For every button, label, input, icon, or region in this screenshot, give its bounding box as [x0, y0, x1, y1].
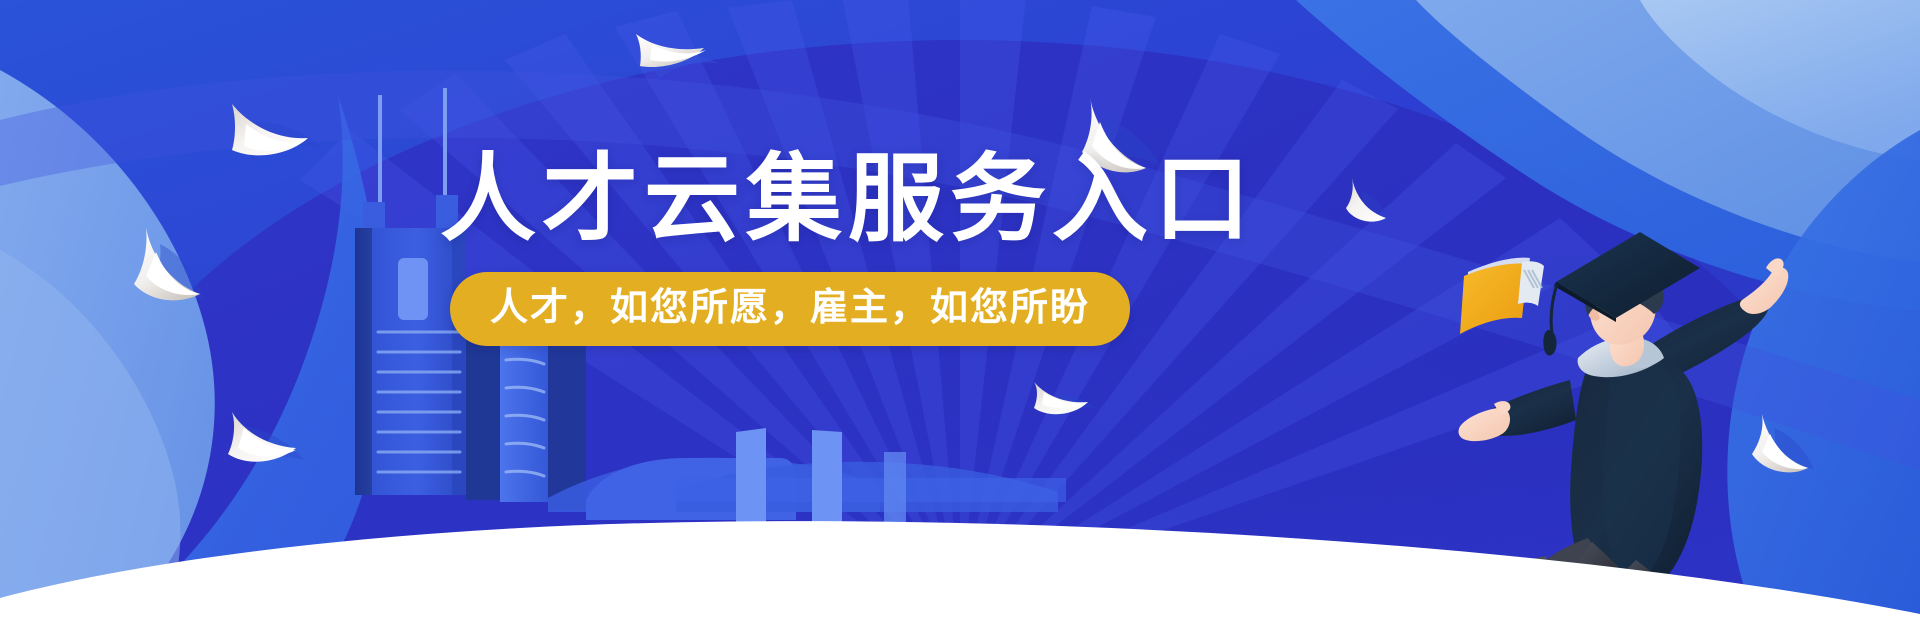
tower-antenna-left	[378, 95, 382, 205]
bridge-pylon-right	[812, 430, 842, 524]
page-title: 人才云集服务入口	[440, 150, 1140, 250]
banner-text-block: 人才云集服务入口 人才，如您所愿，雇主，如您所盼	[440, 150, 1140, 346]
tower-window-panel	[398, 258, 428, 320]
bridge-pylon-left	[736, 428, 766, 524]
tagline-pill: 人才，如您所愿，雇主，如您所盼	[450, 272, 1130, 346]
promo-banner: 人才云集服务入口 人才，如您所愿，雇主，如您所盼	[0, 0, 1920, 630]
